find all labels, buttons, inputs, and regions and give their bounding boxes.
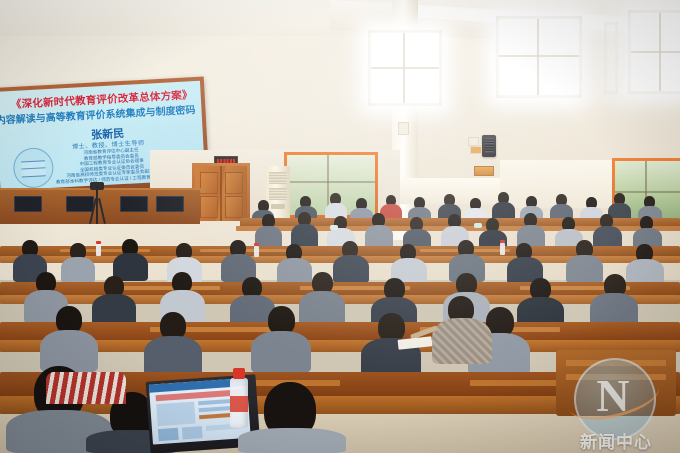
- wooden-double-door[interactable]: [195, 166, 247, 221]
- podium-monitor: [66, 196, 94, 212]
- podium-monitor: [120, 196, 148, 212]
- wall-outlet-1: [468, 137, 479, 146]
- watermark-label: 新闻中心: [556, 428, 676, 453]
- water-bottle: [230, 378, 248, 428]
- conference-photo: 《深化新时代教育评价改革总体方案》 内容解读与高等教育评价系统集成与制度密码 张…: [0, 0, 680, 453]
- podium-monitor: [156, 196, 184, 212]
- attendee-striped-shirt: [46, 372, 126, 404]
- camera-tripod: [96, 186, 98, 224]
- news-center-watermark: N 新闻中心: [556, 358, 676, 450]
- clerestory-window-3: [628, 10, 680, 94]
- water-bottle: [500, 243, 505, 255]
- water-bottle: [96, 244, 101, 256]
- wall-outlet-2: [470, 146, 482, 154]
- water-bottle: [254, 246, 259, 257]
- clerestory-window-edge: [604, 22, 618, 94]
- wall-speaker-icon: [482, 135, 496, 157]
- clerestory-window-2: [496, 16, 582, 98]
- fire-equipment-box-icon: [474, 166, 494, 176]
- clerestory-window-1: [368, 30, 442, 106]
- wall-sensor-icon: [398, 122, 409, 135]
- podium-monitor: [14, 196, 42, 212]
